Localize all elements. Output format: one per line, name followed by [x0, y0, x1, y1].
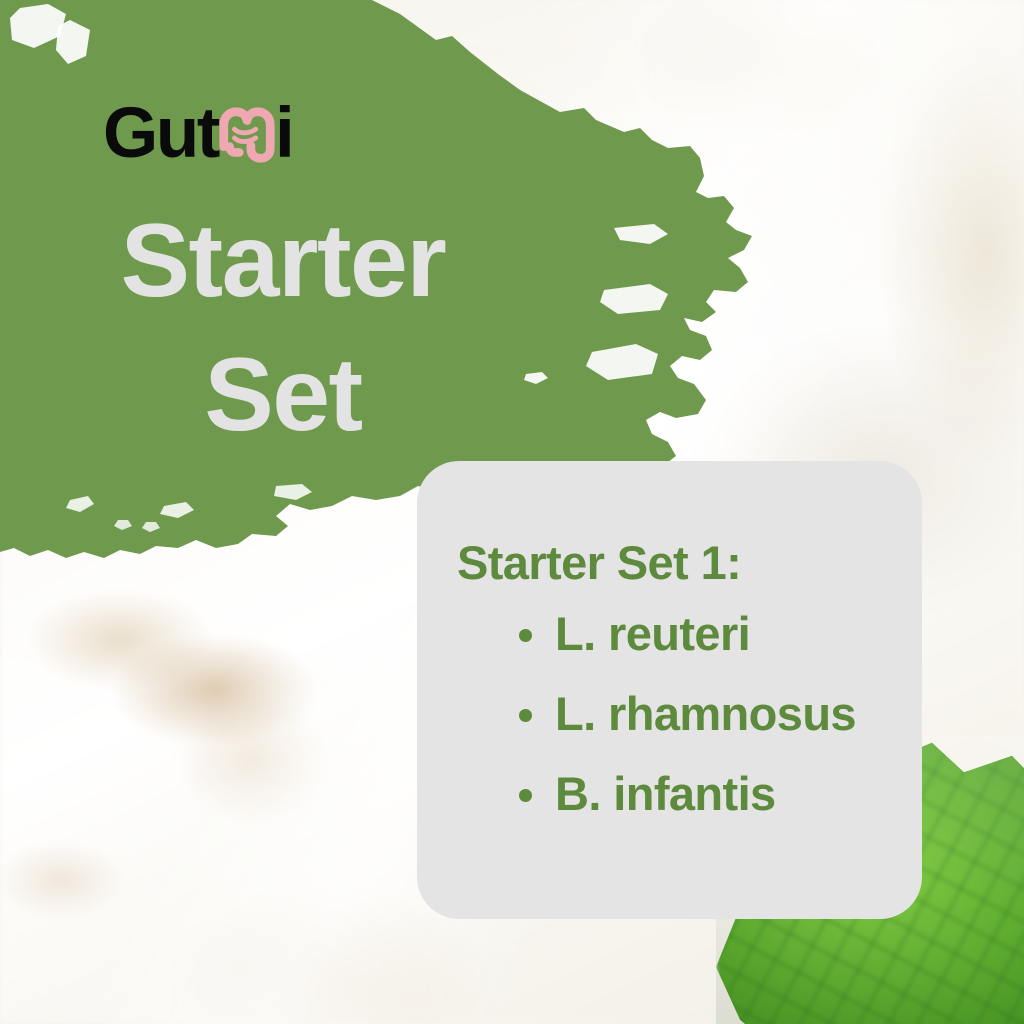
logo-text-gut: Gut [103, 98, 218, 169]
page-title-line-1: Starter [0, 188, 566, 336]
page-title: Starter Set [0, 188, 566, 469]
list-item: B. infantis [443, 770, 922, 817]
card-title: Starter Set 1: [457, 539, 922, 586]
list-item: L. rhamnosus [443, 690, 922, 737]
starter-set-card: Starter Set 1: L. reuteri L. rhamnosus B… [417, 461, 922, 919]
brand-logo: Gut i [103, 97, 294, 169]
list-item: L. reuteri [443, 610, 922, 657]
page-title-line-2: Set [0, 322, 566, 470]
promo-graphic-canvas: Gut i Starter Set Starter Set 1: L. reut… [0, 0, 1024, 1024]
intestine-icon [216, 104, 278, 166]
strain-list: L. reuteri L. rhamnosus B. infantis [443, 610, 922, 817]
